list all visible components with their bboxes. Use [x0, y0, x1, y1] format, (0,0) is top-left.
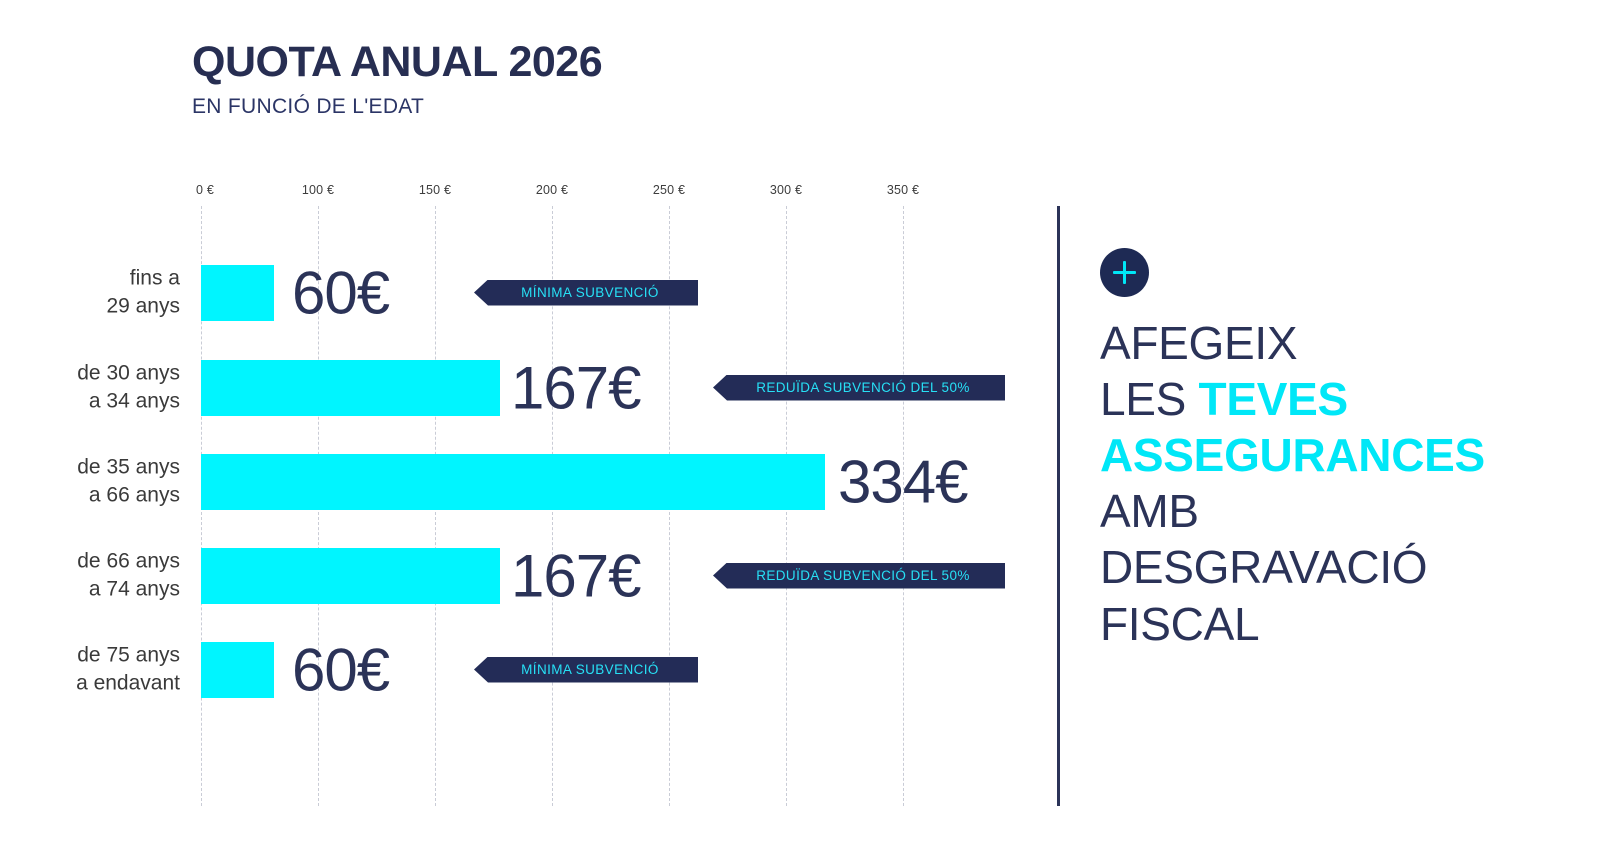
- bar-row: de 30 anys a 34 anys167€REDUÏDA SUBVENCI…: [0, 340, 1040, 435]
- bar-row-label: de 35 anys a 66 anys: [20, 453, 180, 510]
- bar-value-label: 60€: [292, 635, 389, 704]
- side-panel-text: AMB: [1100, 485, 1199, 537]
- subsidy-badge: REDUÏDA SUBVENCIÓ DEL 50%: [713, 375, 1005, 401]
- side-panel-line: AMB: [1100, 483, 1560, 539]
- axis-tick-label: 0 €: [196, 183, 214, 197]
- side-panel-line: ASSEGURANCES: [1100, 427, 1560, 483]
- side-panel: AFEGEIXLES TEVESASSEGURANCESAMBDESGRAVAC…: [1100, 248, 1560, 652]
- bar-row: fins a 29 anys60€MÍNIMA SUBVENCIÓ: [0, 245, 1040, 340]
- side-panel-text-emphasis: TEVES: [1199, 373, 1348, 425]
- bar-row-label-wrap: de 75 anys a endavant: [10, 622, 180, 717]
- bar: [201, 642, 274, 698]
- side-panel-text: LES: [1100, 373, 1199, 425]
- axis-tick-label: 150 €: [419, 183, 451, 197]
- bar-row-label: de 30 anys a 34 anys: [20, 359, 180, 416]
- axis-tick-label: 250 €: [653, 183, 685, 197]
- bar: [201, 454, 825, 510]
- bar-row-label-wrap: de 30 anys a 34 anys: [10, 340, 180, 435]
- bar-value-label: 167€: [511, 353, 640, 422]
- bar-row: de 75 anys a endavant60€MÍNIMA SUBVENCIÓ: [0, 622, 1040, 717]
- subsidy-badge: REDUÏDA SUBVENCIÓ DEL 50%: [713, 563, 1005, 589]
- plus-icon[interactable]: [1100, 248, 1149, 297]
- bar-row-label: fins a 29 anys: [20, 264, 180, 321]
- subsidy-badge: MÍNIMA SUBVENCIÓ: [474, 280, 698, 306]
- side-panel-line: FISCAL: [1100, 596, 1560, 652]
- plus-icon-vertical-stroke: [1123, 261, 1126, 284]
- side-panel-text: FISCAL: [1100, 598, 1259, 650]
- vertical-divider: [1057, 206, 1060, 806]
- side-panel-line: DESGRAVACIÓ: [1100, 539, 1560, 595]
- bar-value-label: 167€: [511, 541, 640, 610]
- axis-tick-label: 350 €: [887, 183, 919, 197]
- bar: [201, 360, 500, 416]
- side-panel-line: LES TEVES: [1100, 371, 1560, 427]
- bar-row: de 66 anys a 74 anys167€REDUÏDA SUBVENCI…: [0, 528, 1040, 623]
- bar: [201, 548, 500, 604]
- axis-tick-label: 100 €: [302, 183, 334, 197]
- side-panel-message: AFEGEIXLES TEVESASSEGURANCESAMBDESGRAVAC…: [1100, 315, 1560, 652]
- bar-value-label: 334€: [838, 447, 967, 516]
- axis-tick-label: 200 €: [536, 183, 568, 197]
- bar-row: de 35 anys a 66 anys334€: [0, 434, 1040, 529]
- bar-row-label-wrap: fins a 29 anys: [10, 245, 180, 340]
- side-panel-text: DESGRAVACIÓ: [1100, 541, 1427, 593]
- bar-chart: 0 €100 €150 €200 €250 €300 €350 € fins a…: [0, 0, 1040, 850]
- bar-value-label: 60€: [292, 258, 389, 327]
- subsidy-badge: MÍNIMA SUBVENCIÓ: [474, 657, 698, 683]
- bar-row-label: de 75 anys a endavant: [20, 641, 180, 698]
- side-panel-text: ASSEGURANCES: [1100, 429, 1485, 481]
- bar: [201, 265, 274, 321]
- axis-tick-label: 300 €: [770, 183, 802, 197]
- bar-row-label: de 66 anys a 74 anys: [20, 547, 180, 604]
- side-panel-line: AFEGEIX: [1100, 315, 1560, 371]
- bar-row-label-wrap: de 35 anys a 66 anys: [10, 434, 180, 529]
- side-panel-text: AFEGEIX: [1100, 317, 1297, 369]
- bar-row-label-wrap: de 66 anys a 74 anys: [10, 528, 180, 623]
